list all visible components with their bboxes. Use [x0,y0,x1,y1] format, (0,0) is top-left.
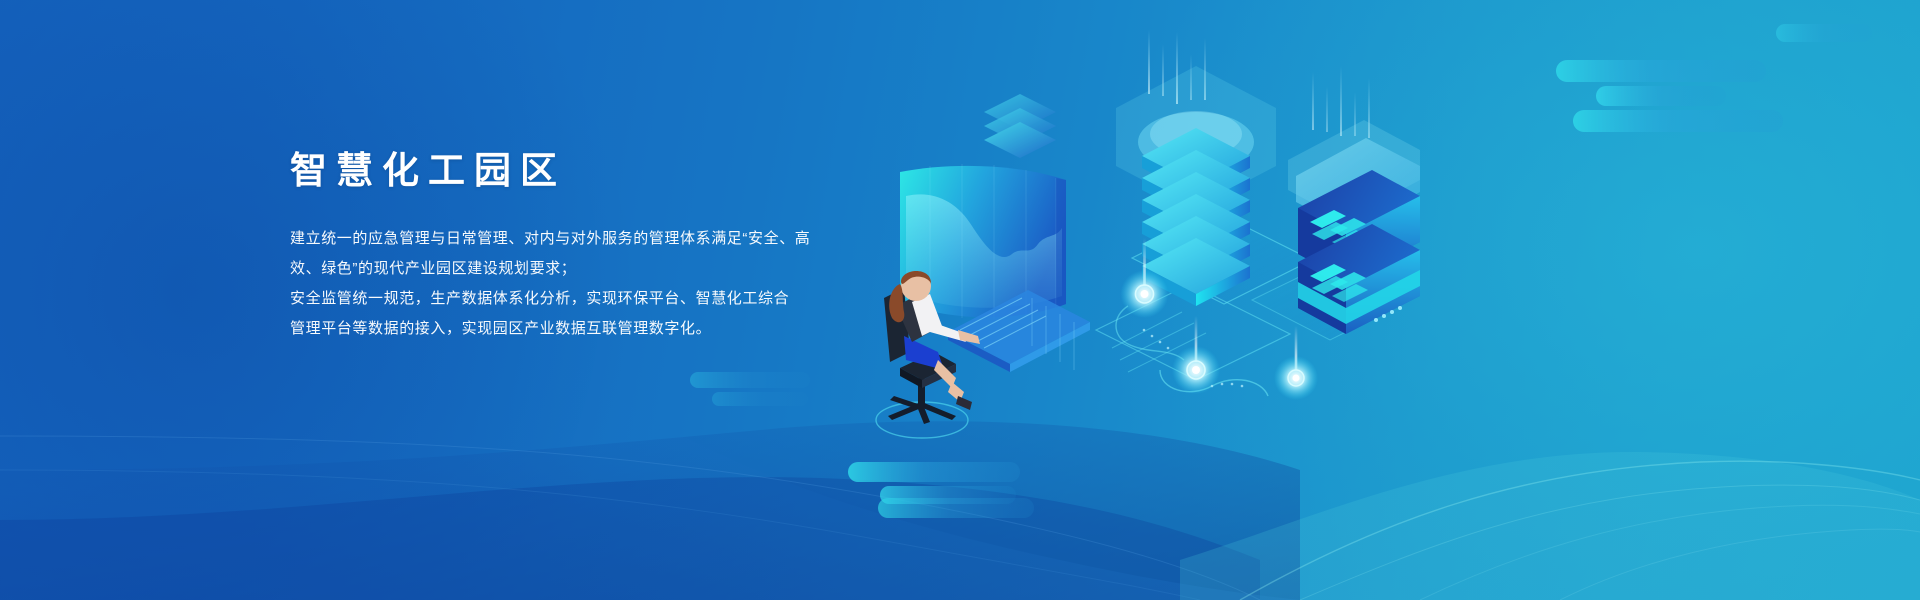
page-title: 智慧化工园区 [290,148,890,194]
banner-copy: 智慧化工园区 建立统一的应急管理与日常管理、对内与对外服务的管理体系满足“安全、… [290,148,890,344]
cloud-bars-top-right [1556,24,1872,132]
description-line-1: 建立统一的应急管理与日常管理、对内与对外服务的管理体系满足“安全、高 [290,224,890,254]
description-line-4: 管理平台等数据的接入，实现园区产业数据互联管理数字化。 [290,314,890,344]
isometric-data-center-illustration [860,30,1420,450]
floating-isometric-cube-icon [984,94,1056,158]
description-line-3: 安全监管统一规范，生产数据体系化分析，实现环保平台、智慧化工综合 [290,284,890,314]
description-line-2: 效、绿色”的现代产业园区建设规划要求； [290,254,890,284]
hero-banner: 智慧化工园区 建立统一的应急管理与日常管理、对内与对外服务的管理体系满足“安全、… [0,0,1920,600]
server-rack [1288,30,1420,334]
